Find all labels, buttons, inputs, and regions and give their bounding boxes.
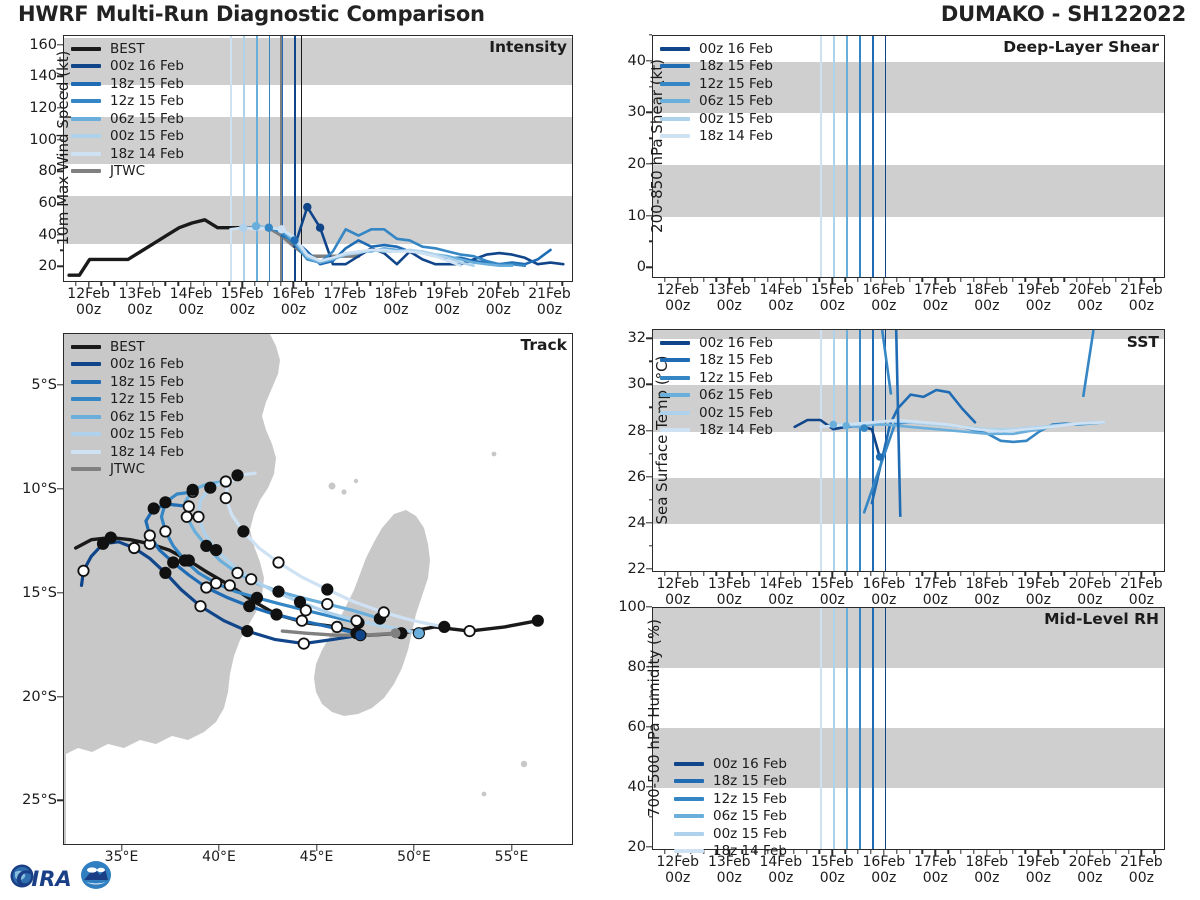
- x-tick-hour: 00z: [871, 592, 896, 608]
- x-tick-mark-minor: [999, 278, 1000, 282]
- legend-item-label: 00z 16 Feb: [110, 58, 184, 74]
- track-marker-00z: [242, 626, 252, 636]
- y-tick-mark-minor: [649, 34, 653, 35]
- y-tick-label: 60: [628, 719, 646, 735]
- y-tick-mark: [646, 215, 652, 216]
- track-marker-12z: [379, 607, 389, 617]
- track-legend: BEST00z 16 Feb18z 15 Feb12z 15 Feb06z 15…: [71, 338, 184, 478]
- y-tick-mark: [646, 666, 652, 667]
- page-title-right: DUMAKO - SH122022: [941, 2, 1186, 26]
- x-tick-hour: 00z: [1129, 870, 1154, 886]
- legend-item-label: 06z 15 Feb: [110, 111, 184, 127]
- x-tick-mark: [935, 572, 936, 578]
- x-tick-label: 20Feb00z: [1069, 855, 1112, 886]
- x-tick-mark-minor: [1012, 278, 1013, 282]
- x-tick-mark-minor: [819, 850, 820, 854]
- x-tick-mark: [729, 572, 730, 578]
- x-tick-hour: 00z: [1026, 298, 1051, 314]
- track-marker-00z: [180, 555, 190, 565]
- legend-item-label: 18z 14 Feb: [713, 843, 787, 859]
- cira-logo: CIRA: [8, 855, 112, 895]
- x-tick-mark-minor: [562, 282, 563, 286]
- x-tick-label: 21Feb00z: [1120, 577, 1163, 608]
- x-tick-hour: 00z: [1129, 298, 1154, 314]
- y-tick-mark-minor: [649, 636, 653, 637]
- y-tick-label: 26: [628, 469, 646, 485]
- x-tick-mark-minor: [741, 278, 742, 282]
- x-tick-mark-minor: [703, 572, 704, 576]
- legend-item: JTWC: [71, 163, 184, 181]
- x-tick-date: 18Feb: [966, 576, 1009, 592]
- x-tick-mark-minor: [1012, 572, 1013, 576]
- x-tick-label: 21Feb00z: [1120, 283, 1163, 314]
- legend-color-swatch: [674, 814, 704, 818]
- sst-y-axis-label: Sea Surface Temp (°C): [653, 280, 671, 600]
- data-point-marker: [303, 203, 311, 211]
- track-marker-12z: [211, 578, 221, 588]
- y-tick-mark: [57, 266, 63, 267]
- x-tick-mark-minor: [896, 572, 897, 576]
- x-tick-hour: 00z: [717, 298, 742, 314]
- y-tick-mark: [646, 726, 652, 727]
- x-tick-mark: [1038, 850, 1039, 856]
- y-tick-label: 0: [637, 259, 646, 275]
- y-tick-label: 20°S: [22, 689, 57, 705]
- x-tick-mark-minor: [1128, 850, 1129, 854]
- track-marker-00z: [168, 557, 178, 567]
- x-tick-mark-minor: [909, 572, 910, 576]
- x-tick-hour: 00z: [974, 870, 999, 886]
- x-tick-mark-minor: [844, 850, 845, 854]
- x-tick-label: 16Feb00z: [863, 577, 906, 608]
- panel-track: Track 5°S10°S15°S20°S25°S 35°E40°E45°E50…: [63, 333, 573, 845]
- x-tick-mark-minor: [1154, 572, 1155, 576]
- y-tick-label: 20: [628, 839, 646, 855]
- legend-item: 06z 15 Feb: [660, 387, 773, 405]
- shear-panel-title: Deep-Layer Shear: [1003, 38, 1159, 56]
- legend-item-label: 18z 15 Feb: [110, 374, 184, 390]
- x-tick-mark-minor: [664, 572, 665, 576]
- legend-item-label: 00z 15 Feb: [699, 405, 773, 421]
- y-tick-mark-minor: [649, 545, 653, 546]
- x-tick-mark-minor: [806, 572, 807, 576]
- track-marker-12z: [129, 543, 139, 553]
- panel-intensity: Intensity 10m Max Wind Speed (kt) 204060…: [63, 35, 573, 282]
- x-tick-mark-minor: [767, 572, 768, 576]
- track-line: [82, 542, 361, 644]
- x-tick-mark-minor: [229, 282, 230, 286]
- track-marker-12z: [332, 622, 342, 632]
- legend-item-label: JTWC: [110, 163, 145, 179]
- track-marker-00z: [252, 593, 262, 603]
- x-tick-mark: [190, 282, 191, 288]
- legend-item: 06z 15 Feb: [660, 93, 773, 111]
- x-tick-date: 20Feb: [1069, 282, 1112, 298]
- x-tick-label: 20Feb00z: [1069, 283, 1112, 314]
- legend-item: 18z 14 Feb: [660, 422, 773, 440]
- x-tick-label: 45°E: [300, 850, 334, 866]
- legend-item: 00z 16 Feb: [660, 40, 773, 58]
- legend-item: 18z 14 Feb: [71, 443, 184, 461]
- x-tick-hour: 00z: [665, 870, 690, 886]
- legend-item-label: 06z 15 Feb: [713, 808, 787, 824]
- y-tick-mark-minor: [60, 218, 64, 219]
- y-tick-label: 40: [628, 779, 646, 795]
- x-tick-mark-minor: [754, 572, 755, 576]
- track-current-position-marker: [355, 630, 365, 640]
- legend-item-label: 00z 15 Feb: [110, 426, 184, 442]
- legend-color-swatch: [71, 345, 101, 349]
- x-tick-label: 12Feb00z: [67, 287, 110, 318]
- x-tick-date: 21Feb: [528, 286, 571, 302]
- data-point-marker: [239, 224, 247, 232]
- x-tick-hour: 00z: [768, 298, 793, 314]
- x-tick-mark-minor: [152, 282, 153, 286]
- x-tick-mark-minor: [523, 282, 524, 286]
- y-tick-mark: [57, 384, 63, 385]
- legend-item: 12z 15 Feb: [674, 790, 787, 808]
- legend-item: 12z 15 Feb: [71, 391, 184, 409]
- y-tick-label: 140: [29, 68, 57, 84]
- legend-item: 00z 15 Feb: [660, 110, 773, 128]
- legend-item-label: 12z 15 Feb: [110, 93, 184, 109]
- x-tick-hour: 00z: [76, 302, 101, 318]
- x-tick-mark-minor: [485, 282, 486, 286]
- x-tick-label: 14Feb00z: [759, 283, 802, 314]
- x-tick-hour: 00z: [178, 302, 203, 318]
- x-tick-date: 16Feb: [863, 576, 906, 592]
- x-tick-hour: 00z: [923, 592, 948, 608]
- x-tick-hour: 00z: [537, 302, 562, 318]
- y-tick-mark-minor: [649, 816, 653, 817]
- x-tick-label: 14Feb00z: [170, 287, 213, 318]
- x-tick-hour: 00z: [1077, 592, 1102, 608]
- x-tick-hour: 00z: [871, 870, 896, 886]
- x-tick-mark: [344, 282, 345, 288]
- legend-item: 12z 15 Feb: [660, 369, 773, 387]
- x-tick-label: 17Feb00z: [914, 577, 957, 608]
- y-tick-mark: [646, 786, 652, 787]
- x-tick-mark-minor: [793, 278, 794, 282]
- x-tick-date: 18Feb: [966, 854, 1009, 870]
- y-tick-label: 24: [628, 515, 646, 531]
- y-tick-label: 60: [39, 195, 57, 211]
- y-tick-mark: [57, 171, 63, 172]
- x-tick-date: 14Feb: [759, 576, 802, 592]
- x-tick-mark-minor: [844, 278, 845, 282]
- track-marker-12z: [160, 526, 170, 536]
- track-marker-12z: [193, 512, 203, 522]
- x-tick-mark-minor: [857, 850, 858, 854]
- x-tick-mark-minor: [870, 850, 871, 854]
- x-tick-mark-minor: [960, 572, 961, 576]
- x-tick-label: 20Feb00z: [1069, 577, 1112, 608]
- legend-item-label: 00z 15 Feb: [699, 111, 773, 127]
- legend-color-swatch: [660, 411, 690, 415]
- x-tick-mark: [935, 278, 936, 284]
- track-marker-12z: [246, 574, 256, 584]
- y-tick-label: 10: [628, 208, 646, 224]
- panel-shear: Deep-Layer Shear 200-850 hPa Shear (kt) …: [652, 35, 1165, 278]
- data-point-marker: [842, 422, 850, 430]
- legend-color-swatch: [71, 467, 101, 471]
- y-tick-mark-minor: [60, 60, 64, 61]
- x-tick-mark-minor: [703, 278, 704, 282]
- x-tick-mark-minor: [677, 572, 678, 576]
- legend-item-label: 00z 16 Feb: [699, 335, 773, 351]
- track-marker-12z: [201, 582, 211, 592]
- x-tick-mark: [413, 845, 414, 851]
- y-tick-mark: [57, 800, 63, 801]
- x-tick-label: 17Feb00z: [914, 283, 957, 314]
- x-tick-label: 18Feb00z: [375, 287, 418, 318]
- legend-item-label: 12z 15 Feb: [699, 76, 773, 92]
- x-tick-mark-minor: [126, 282, 127, 286]
- x-tick-mark-minor: [280, 282, 281, 286]
- y-tick-mark-minor: [60, 123, 64, 124]
- x-tick-label: 18Feb00z: [966, 577, 1009, 608]
- y-tick-label: 40: [628, 53, 646, 69]
- legend-color-swatch: [71, 169, 101, 173]
- track-marker-00z: [160, 497, 170, 507]
- legend-item-label: 18z 14 Feb: [110, 146, 184, 162]
- x-tick-label: 21Feb00z: [1120, 855, 1163, 886]
- y-tick-mark-minor: [60, 155, 64, 156]
- y-tick-label: 80: [39, 163, 57, 179]
- x-tick-label: 16Feb00z: [272, 287, 315, 318]
- x-tick-hour: 00z: [923, 298, 948, 314]
- x-tick-mark-minor: [178, 282, 179, 286]
- track-marker-00z: [271, 609, 281, 619]
- y-tick-label: 30: [628, 104, 646, 120]
- data-point-marker: [265, 224, 273, 232]
- track-marker-12z: [273, 557, 283, 567]
- x-tick-mark-minor: [216, 282, 217, 286]
- series-line: [882, 330, 891, 395]
- x-tick-mark-minor: [1063, 278, 1064, 282]
- x-tick-label: 13Feb00z: [708, 577, 751, 608]
- x-tick-date: 17Feb: [914, 576, 957, 592]
- x-tick-mark: [1141, 572, 1142, 578]
- x-tick-mark-minor: [960, 278, 961, 282]
- x-tick-mark-minor: [1154, 850, 1155, 854]
- legend-item-label: 18z 15 Feb: [699, 352, 773, 368]
- x-tick-hour: 00z: [768, 870, 793, 886]
- y-tick-mark-minor: [649, 407, 653, 408]
- x-tick-mark-minor: [1051, 278, 1052, 282]
- legend-color-swatch: [660, 376, 690, 380]
- data-point-marker: [278, 225, 286, 233]
- y-tick-label: 80: [628, 659, 646, 675]
- legend-color-swatch: [660, 393, 690, 397]
- x-tick-date: 19Feb: [1017, 854, 1060, 870]
- x-tick-mark-minor: [318, 282, 319, 286]
- intensity-panel-title: Intensity: [489, 38, 567, 56]
- legend-item-label: 00z 16 Feb: [699, 41, 773, 57]
- legend-item: JTWC: [71, 461, 184, 479]
- legend-item: BEST: [71, 40, 184, 58]
- legend-color-swatch: [660, 428, 690, 432]
- x-tick-label: 18Feb00z: [966, 283, 1009, 314]
- y-tick-label: 160: [29, 37, 57, 53]
- x-tick-label: 16Feb00z: [863, 855, 906, 886]
- x-tick-mark-minor: [1025, 278, 1026, 282]
- track-marker-00z: [201, 541, 211, 551]
- track-marker-12z: [464, 626, 474, 636]
- x-tick-date: 18Feb: [966, 282, 1009, 298]
- track-marker-12z: [195, 601, 205, 611]
- legend-item-label: 00z 15 Feb: [110, 128, 184, 144]
- x-tick-date: 16Feb: [272, 286, 315, 302]
- x-tick-mark-minor: [690, 278, 691, 282]
- x-tick-mark-minor: [716, 278, 717, 282]
- data-point-marker: [876, 453, 884, 461]
- legend-item-label: 06z 15 Feb: [699, 93, 773, 109]
- x-tick-mark-minor: [999, 572, 1000, 576]
- legend-color-swatch: [71, 152, 101, 156]
- legend-color-swatch: [71, 99, 101, 103]
- track-marker-00z: [295, 597, 305, 607]
- y-tick-mark-minor: [649, 189, 653, 190]
- legend-item: 00z 15 Feb: [674, 825, 787, 843]
- legend-color-swatch: [660, 47, 690, 51]
- x-tick-mark-minor: [973, 850, 974, 854]
- x-tick-label: 19Feb00z: [426, 287, 469, 318]
- x-tick-mark: [498, 282, 499, 288]
- legend-color-swatch: [674, 779, 704, 783]
- x-tick-mark-minor: [857, 572, 858, 576]
- x-tick-hour: 00z: [383, 302, 408, 318]
- x-tick-mark-minor: [408, 282, 409, 286]
- y-tick-mark: [57, 75, 63, 76]
- x-tick-hour: 00z: [665, 592, 690, 608]
- track-marker-00z: [238, 526, 248, 536]
- x-tick-mark: [1038, 572, 1039, 578]
- x-tick-mark-minor: [844, 572, 845, 576]
- x-tick-mark: [139, 282, 140, 288]
- legend-color-swatch: [674, 762, 704, 766]
- x-tick-mark-minor: [165, 282, 166, 286]
- x-tick-mark: [1141, 278, 1142, 284]
- x-tick-mark-minor: [677, 278, 678, 282]
- x-tick-mark: [883, 572, 884, 578]
- x-tick-mark: [832, 850, 833, 856]
- x-tick-mark: [511, 845, 512, 851]
- track-marker-00z: [205, 483, 215, 493]
- x-tick-mark: [1089, 278, 1090, 284]
- legend-item: 18z 15 Feb: [660, 58, 773, 76]
- legend-item: 00z 16 Feb: [71, 356, 184, 374]
- x-tick-mark-minor: [922, 850, 923, 854]
- legend-item: 18z 14 Feb: [71, 145, 184, 163]
- x-tick-date: 19Feb: [1017, 576, 1060, 592]
- legend-item-label: BEST: [110, 41, 145, 57]
- x-tick-mark-minor: [806, 850, 807, 854]
- y-tick-label: 15°S: [22, 585, 57, 601]
- y-tick-mark: [57, 44, 63, 45]
- x-tick-label: 17Feb00z: [323, 287, 366, 318]
- x-tick-hour: 00z: [923, 870, 948, 886]
- x-tick-label: 18Feb00z: [966, 855, 1009, 886]
- x-tick-mark-minor: [254, 282, 255, 286]
- legend-item: 06z 15 Feb: [71, 408, 184, 426]
- x-tick-mark-minor: [331, 282, 332, 286]
- legend-color-swatch: [71, 82, 101, 86]
- x-tick-mark-minor: [1128, 572, 1129, 576]
- y-tick-mark-minor: [649, 86, 653, 87]
- track-marker-12z: [221, 493, 231, 503]
- y-tick-label: 40: [39, 227, 57, 243]
- legend-item-label: 06z 15 Feb: [110, 409, 184, 425]
- x-tick-mark: [121, 845, 122, 851]
- x-tick-mark-minor: [819, 278, 820, 282]
- x-tick-hour: 00z: [820, 298, 845, 314]
- track-marker-12z: [322, 599, 332, 609]
- x-tick-label: 55°E: [495, 850, 529, 866]
- x-tick-mark-minor: [870, 278, 871, 282]
- y-tick-mark-minor: [649, 696, 653, 697]
- sst-legend: 00z 16 Feb18z 15 Feb12z 15 Feb06z 15 Feb…: [660, 334, 773, 439]
- x-tick-label: 20Feb00z: [477, 287, 520, 318]
- x-tick-mark-minor: [1154, 278, 1155, 282]
- legend-item-label: 18z 14 Feb: [699, 422, 773, 438]
- y-tick-mark-minor: [60, 91, 64, 92]
- track-current-position-marker: [414, 628, 424, 638]
- x-tick-date: 20Feb: [1069, 576, 1112, 592]
- page-title-left: HWRF Multi-Run Diagnostic Comparison: [18, 2, 485, 26]
- x-tick-mark: [1141, 850, 1142, 856]
- x-tick-mark-minor: [1128, 278, 1129, 282]
- y-tick-mark: [646, 522, 652, 523]
- x-tick-label: 13Feb00z: [119, 287, 162, 318]
- track-panel-title: Track: [521, 336, 567, 354]
- legend-item: BEST: [71, 338, 184, 356]
- x-tick-mark-minor: [1102, 850, 1103, 854]
- track-marker-12z: [221, 476, 231, 486]
- legend-item: 18z 15 Feb: [674, 773, 787, 791]
- legend-item: 00z 16 Feb: [71, 58, 184, 76]
- x-tick-mark-minor: [382, 282, 383, 286]
- x-tick-mark-minor: [203, 282, 204, 286]
- y-tick-label: 28: [628, 423, 646, 439]
- track-marker-00z: [211, 545, 221, 555]
- x-tick-mark-minor: [1115, 850, 1116, 854]
- y-tick-label: 5°S: [31, 377, 57, 393]
- x-tick-mark: [986, 278, 987, 284]
- x-tick-mark-minor: [767, 278, 768, 282]
- x-tick-label: 21Feb00z: [528, 287, 571, 318]
- x-tick-mark-minor: [421, 282, 422, 286]
- x-tick-label: 40°E: [202, 850, 236, 866]
- x-tick-mark: [832, 572, 833, 578]
- y-tick-label: 32: [628, 330, 646, 346]
- x-tick-mark-minor: [1102, 572, 1103, 576]
- x-tick-mark-minor: [793, 850, 794, 854]
- x-tick-label: 19Feb00z: [1017, 283, 1060, 314]
- track-marker-00z: [533, 616, 543, 626]
- x-tick-mark-minor: [1063, 850, 1064, 854]
- legend-color-swatch: [660, 99, 690, 103]
- data-point-marker: [290, 236, 298, 244]
- y-tick-mark: [57, 488, 63, 489]
- x-tick-mark: [883, 850, 884, 856]
- x-tick-mark: [780, 572, 781, 578]
- x-tick-label: 14Feb00z: [759, 577, 802, 608]
- y-tick-mark-minor: [649, 241, 653, 242]
- x-tick-hour: 00z: [768, 592, 793, 608]
- x-tick-mark-minor: [857, 278, 858, 282]
- legend-item: 00z 15 Feb: [660, 404, 773, 422]
